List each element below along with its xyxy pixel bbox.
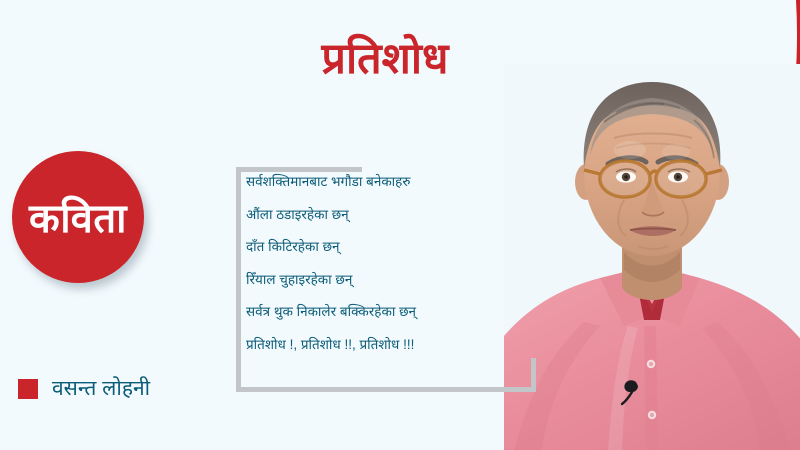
poem-line: रिँयाल चुहाइरहेका छन् [246,273,536,287]
frame-border-right [531,358,536,392]
category-badge-label: कविता [29,199,127,239]
poem-line: प्रतिशोध !, प्रतिशोध !!, प्रतिशोध !!! [246,338,536,352]
poem-line: सर्वशक्तिमानबाट भगौडा बनेकाहरु [246,175,536,189]
byline: वसन्त लोहनी [18,378,150,399]
category-badge: कविता [12,151,144,283]
poem-frame: सर्वशक्तिमानबाट भगौडा बनेकाहरु औंला ठडाइ… [228,167,536,392]
author-name: वसन्त लोहनी [52,378,150,399]
poem-text: सर्वशक्तिमानबाट भगौडा बनेकाहरु औंला ठडाइ… [246,175,536,351]
frame-border-bottom [236,387,536,392]
frame-border-left [236,167,241,392]
poet-portrait-photo [504,64,800,450]
page-title: प्रतिशोध [175,36,595,83]
poem-line: औंला ठडाइरहेका छन् [246,208,536,222]
poem-line: सर्वत्र थुक निकालेर बक्किरहेका छन् [246,305,536,319]
frame-border-top [236,167,362,172]
poem-poster: प्रतिशोध कविता सर्वशक्तिमानबाट भगौडा बने… [0,0,800,450]
poem-line: दाँत किटिरहेका छन् [246,240,536,254]
square-bullet-icon [18,379,38,399]
